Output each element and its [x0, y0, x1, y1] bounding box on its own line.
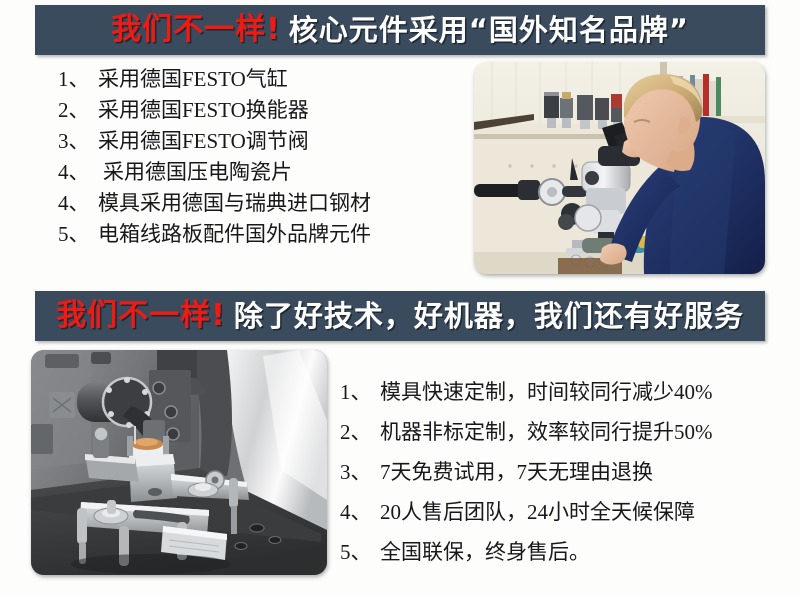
list-item-label: 采用德国压电陶瓷片: [98, 157, 292, 188]
list-item: 3、 采用德国FESTO调节阀: [58, 126, 458, 157]
list-item: 3、 7天免费试用，7天无理由退换: [340, 452, 790, 492]
microscope-photo-art: [474, 62, 765, 274]
list-item-number: 5、: [340, 532, 380, 572]
list-item: 5、 全国联保，终身售后。: [340, 532, 790, 572]
list-item-label: 采用德国FESTO气缸: [98, 64, 288, 95]
list-item: 4、 20人售后团队，24小时全天候保障: [340, 492, 790, 532]
banner-top-accent-text: 我们不一样!: [111, 15, 281, 45]
banner-bottom-main-text: 除了好技术，好机器，我们还有好服务: [234, 302, 744, 331]
banner-top: 我们不一样! 核心元件采用“国外知名品牌”: [35, 5, 765, 55]
list-item-number: 4、: [58, 157, 98, 188]
list-item: 2、 机器非标定制，效率较同行提升50%: [340, 412, 790, 452]
list-item: 2、 采用德国FESTO换能器: [58, 95, 458, 126]
list-item-label: 电箱线路板配件国外品牌元件: [98, 219, 371, 250]
list-item-label: 全国联保，终身售后。: [380, 532, 590, 572]
banner-top-main-text: 核心元件采用“国外知名品牌”: [289, 16, 689, 45]
list-item-label: 采用德国FESTO换能器: [98, 95, 309, 126]
list-item-label: 模具采用德国与瑞典进口钢材: [98, 188, 371, 219]
list-item-label: 20人售后团队，24小时全天候保障: [380, 492, 695, 532]
microscope-inspection-photo: [474, 62, 765, 274]
top-feature-list: 1、 采用德国FESTO气缸 2、 采用德国FESTO换能器 3、 采用德国FE…: [58, 64, 458, 250]
list-item-label: 机器非标定制，效率较同行提升50%: [380, 412, 713, 452]
list-item-number: 4、: [58, 188, 98, 219]
list-item-number: 5、: [58, 219, 98, 250]
banner-bottom: 我们不一样! 除了好技术，好机器，我们还有好服务: [35, 291, 765, 341]
list-item: 4、 采用德国压电陶瓷片: [58, 157, 458, 188]
machine-photo-art: [31, 350, 327, 575]
list-item: 1、 采用德国FESTO气缸: [58, 64, 458, 95]
list-item-number: 1、: [58, 64, 98, 95]
list-item: 4、 模具采用德国与瑞典进口钢材: [58, 188, 458, 219]
list-item: 1、 模具快速定制，时间较同行减少40%: [340, 372, 790, 412]
list-item-label: 采用德国FESTO调节阀: [98, 126, 309, 157]
list-item-number: 4、: [340, 492, 380, 532]
list-item-number: 1、: [340, 372, 380, 412]
list-item-number: 2、: [340, 412, 380, 452]
bottom-service-list: 1、 模具快速定制，时间较同行减少40% 2、 机器非标定制，效率较同行提升50…: [340, 372, 790, 572]
list-item-number: 3、: [58, 126, 98, 157]
list-item-label: 7天免费试用，7天无理由退换: [380, 452, 653, 492]
list-item: 5、 电箱线路板配件国外品牌元件: [58, 219, 458, 250]
list-item-label: 模具快速定制，时间较同行减少40%: [380, 372, 713, 412]
machine-tooling-photo: [31, 350, 327, 575]
promo-page: 我们不一样! 核心元件采用“国外知名品牌” 1、 采用德国FESTO气缸 2、 …: [0, 0, 800, 597]
banner-bottom-accent-text: 我们不一样!: [56, 301, 226, 331]
list-item-number: 3、: [340, 452, 380, 492]
list-item-number: 2、: [58, 95, 98, 126]
